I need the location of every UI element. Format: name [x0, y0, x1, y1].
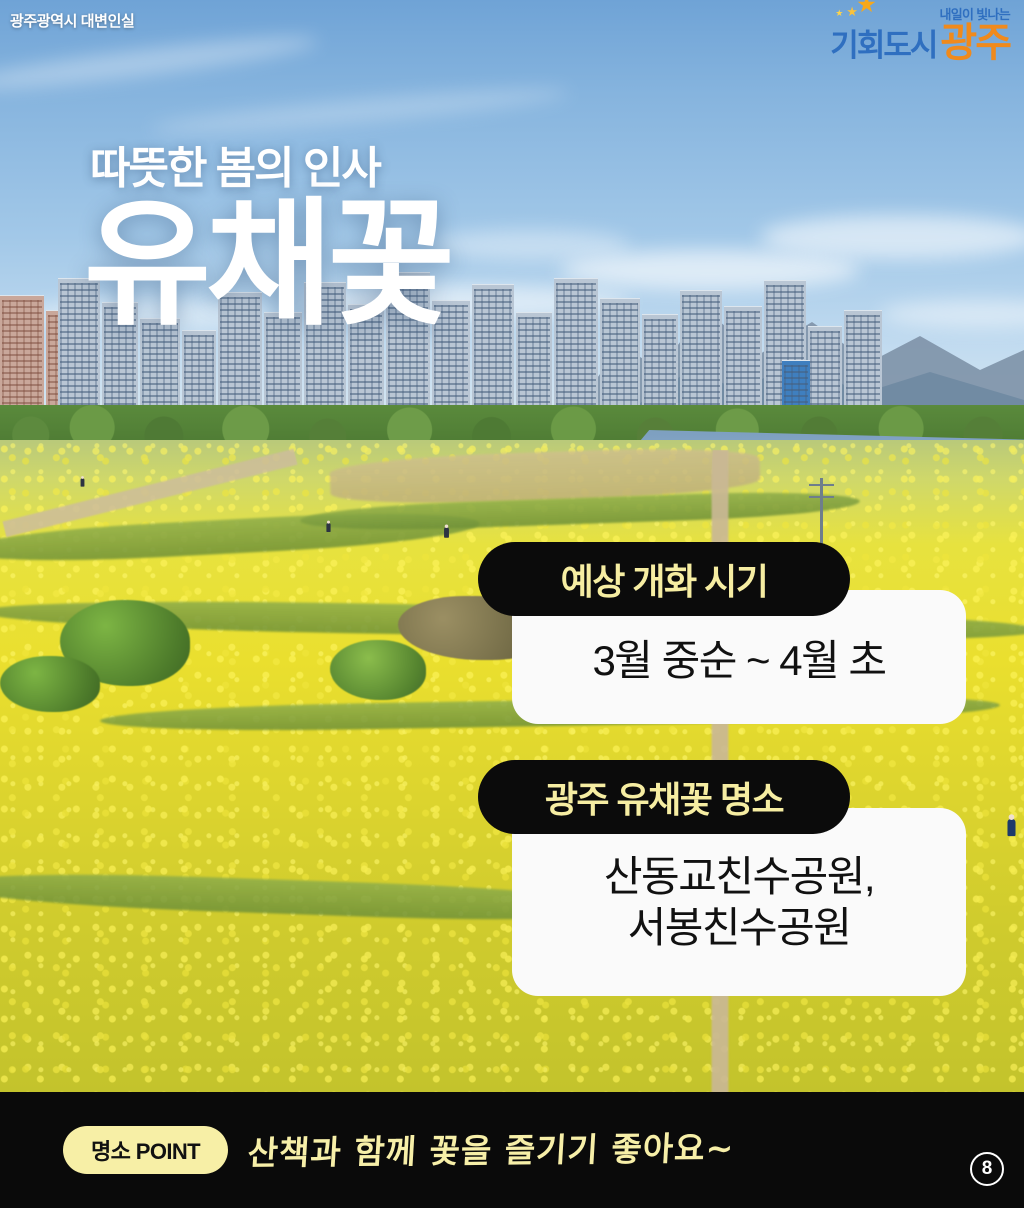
- logo-tagline-row: ★ ★ ★ 내일이 빛나는: [830, 8, 1010, 21]
- info-card-body-spots: 산동교친수공원, 서봉친수공원: [512, 808, 966, 996]
- info-line: 3월 중순 ~ 4월 초: [592, 627, 885, 688]
- department-label: 광주광역시 대변인실: [10, 10, 134, 31]
- info-line: 산동교친수공원,: [604, 851, 874, 902]
- hero-subtitle: 따뜻한 봄의 인사: [90, 132, 380, 196]
- info-line: 서봉친수공원: [628, 902, 851, 953]
- hero-title: 유채꽃: [84, 196, 450, 334]
- logo-city-type: 기회도시: [830, 30, 936, 61]
- star-icon: ★: [846, 5, 857, 18]
- point-badge: 명소 POINT: [63, 1126, 228, 1174]
- utility-pole: [820, 478, 823, 552]
- shrub: [330, 640, 426, 700]
- visitor-figure: [444, 527, 449, 538]
- logo-city-name: 광주: [940, 23, 1010, 63]
- visitor-figure: [81, 478, 85, 486]
- shrub: [0, 656, 100, 712]
- logo-tagline: 내일이 빛나는: [940, 7, 1010, 22]
- visitor-figure: [1007, 819, 1015, 836]
- info-card-heading-bloom-period: 예상 개화 시기: [478, 542, 850, 616]
- logo-wordmark: 기회도시 광주: [830, 23, 1010, 63]
- visitor-figure: [326, 523, 330, 532]
- gwangju-city-logo: ★ ★ ★ 내일이 빛나는 기회도시 광주: [830, 8, 1010, 63]
- star-icon: ★: [856, 0, 876, 16]
- page-number-badge: 8: [970, 1152, 1004, 1186]
- star-icon: ★: [835, 9, 842, 18]
- promo-card: 광주광역시 대변인실 ★ ★ ★ 내일이 빛나는 기회도시 광주 따뜻한 봄의 …: [0, 0, 1024, 1208]
- info-card-heading-spots: 광주 유채꽃 명소: [478, 760, 850, 834]
- point-message: 산책과 함께 꽃을 즐기기 좋아요~: [246, 1121, 735, 1174]
